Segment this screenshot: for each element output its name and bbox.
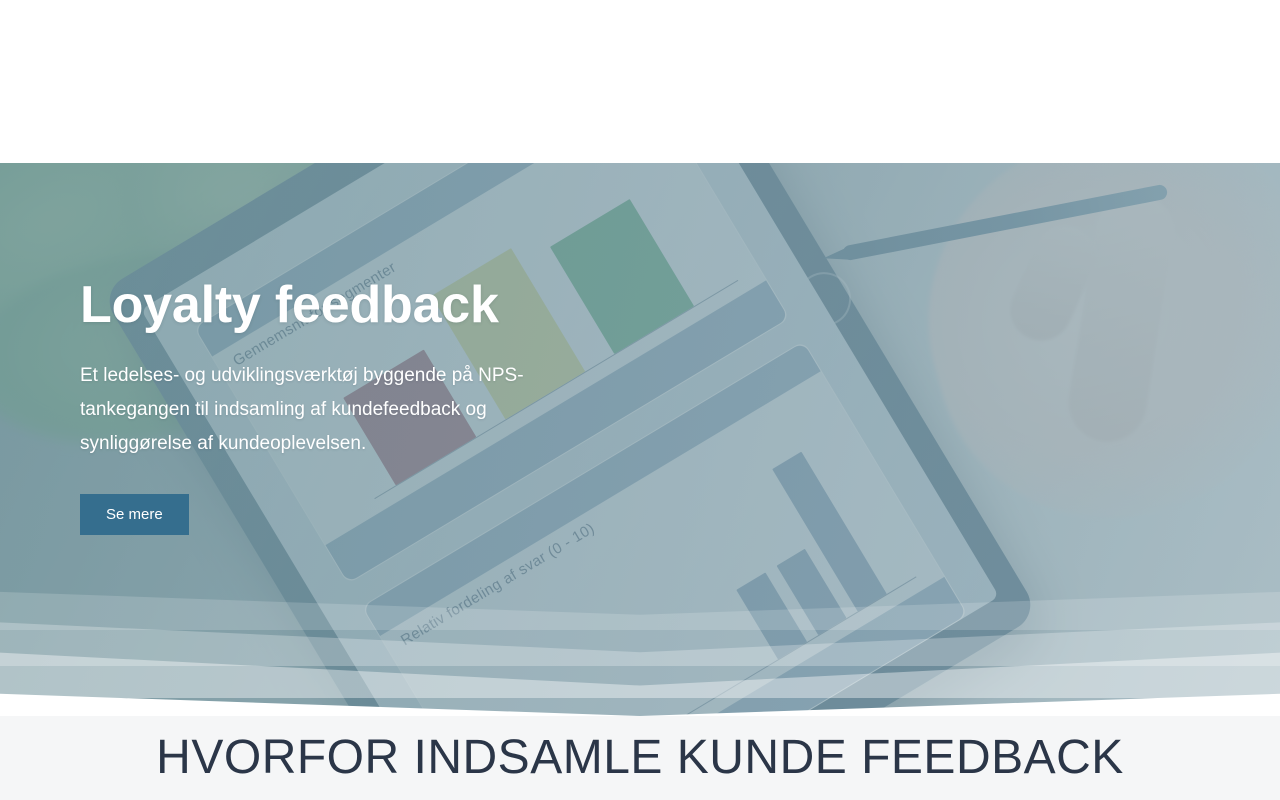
- hero-subtitle: Et ledelses- og udviklingsværktøj byggen…: [80, 359, 580, 461]
- why-collect-feedback-section: HVORFOR INDSAMLE KUNDE FEEDBACK: [0, 716, 1280, 800]
- site-header: [0, 0, 1280, 163]
- hero-content: Loyalty feedback Et ledelses- og udvikli…: [80, 278, 720, 535]
- se-mere-button[interactable]: Se mere: [80, 494, 189, 535]
- section-heading: HVORFOR INDSAMLE KUNDE FEEDBACK: [0, 730, 1280, 785]
- hero-banner: Gennemsnit for segmenter Relativ fordeli…: [0, 163, 1280, 716]
- hero-title: Loyalty feedback: [80, 278, 720, 333]
